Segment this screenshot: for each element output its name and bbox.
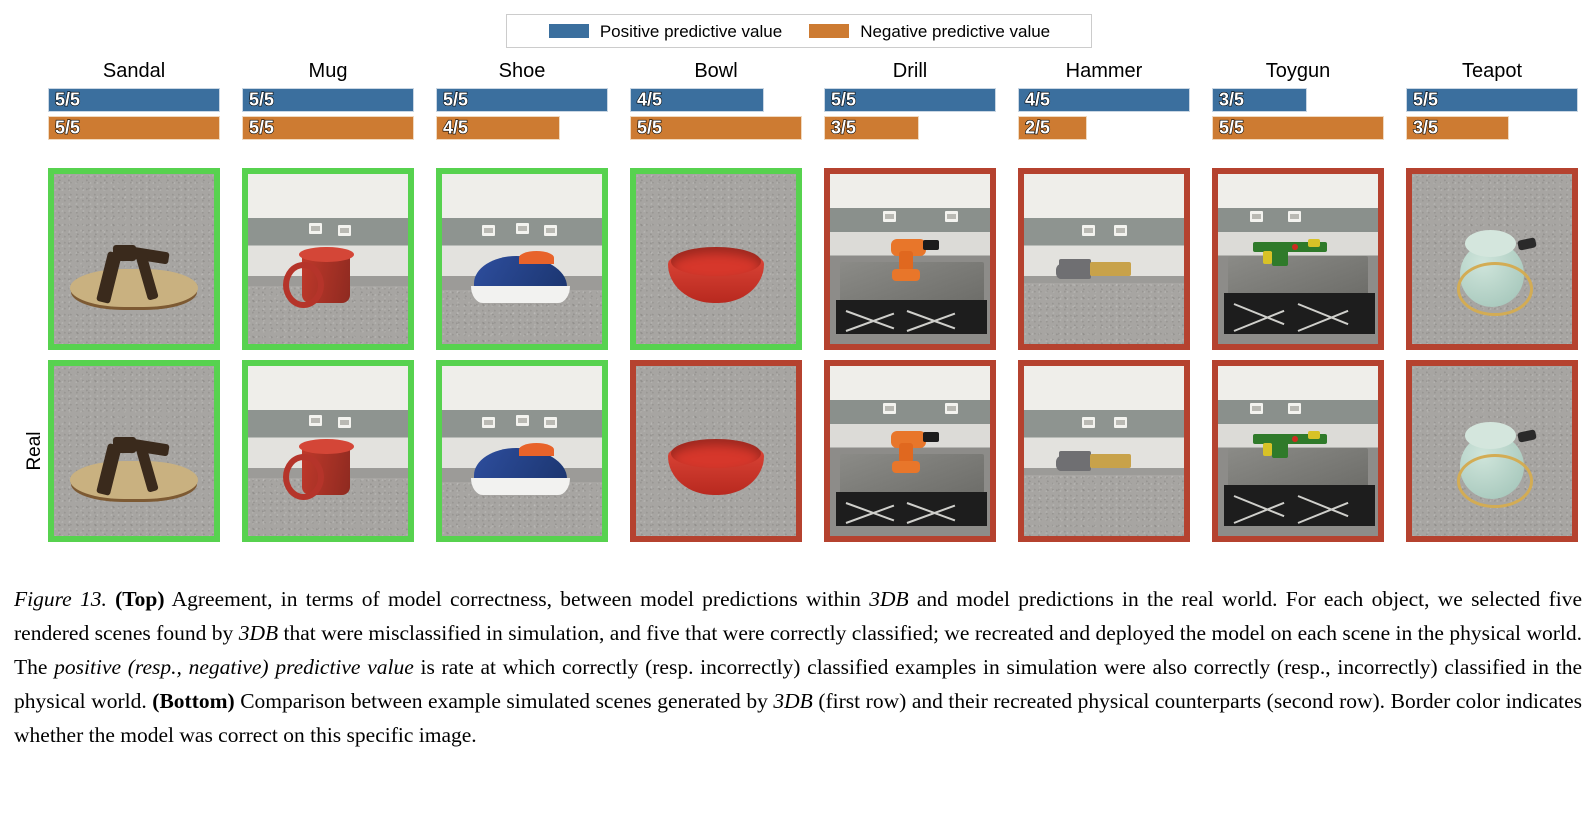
chart-column-title: Shoe — [436, 58, 608, 88]
caption-segment-5: Comparison between example simulated sce… — [235, 689, 774, 713]
bar-track-npv: 4/5 — [436, 116, 608, 140]
scene-cell-real-toygun[interactable] — [1212, 360, 1384, 542]
bar-value-label: 2/5 — [1025, 118, 1050, 139]
caption-bottom-label: (Bottom) — [152, 689, 234, 713]
chart-column-hammer: Hammer4/52/5 — [1018, 58, 1212, 150]
scene-hammer-room — [1024, 174, 1184, 344]
scene-image-grid — [48, 168, 1578, 542]
scene-cell-synthetic-hammer[interactable] — [1018, 168, 1190, 350]
scene-mug-room — [248, 366, 408, 536]
legend-entry-npv: Negative predictive value — [808, 23, 1050, 40]
chart-column-shoe: Shoe5/54/5 — [436, 58, 630, 150]
bar-track-npv: 3/5 — [1406, 116, 1578, 140]
caption-segment-1: Agreement, in terms of model correctness… — [165, 587, 870, 611]
bar-npv: 2/5 — [1018, 116, 1087, 140]
bar-track-ppv: 3/5 — [1212, 88, 1384, 112]
bar-track-npv: 5/5 — [1212, 116, 1384, 140]
bar-value-label: 5/5 — [637, 118, 662, 139]
bar-track-ppv: 4/5 — [630, 88, 802, 112]
bar-npv: 5/5 — [630, 116, 802, 140]
bar-ppv: 5/5 — [824, 88, 996, 112]
bar-value-label: 5/5 — [831, 90, 856, 111]
grid-row-synthetic — [48, 168, 1578, 350]
bar-npv: 4/5 — [436, 116, 560, 140]
bar-value-label: 5/5 — [55, 90, 80, 111]
bar-track-ppv: 5/5 — [242, 88, 414, 112]
figure-caption: Figure 13. (Top) Agreement, in terms of … — [14, 582, 1582, 752]
chart-column-title: Sandal — [48, 58, 220, 88]
bar-value-label: 4/5 — [1025, 90, 1050, 111]
scene-shoe-room — [442, 174, 602, 344]
bar-track-ppv: 5/5 — [1406, 88, 1578, 112]
bar-npv: 5/5 — [1212, 116, 1384, 140]
caption-figure-label: Figure 13. — [14, 587, 107, 611]
chart-column-title: Mug — [242, 58, 414, 88]
scene-cell-synthetic-drill[interactable] — [824, 168, 996, 350]
scene-cell-synthetic-sandal[interactable] — [48, 168, 220, 350]
bar-value-label: 4/5 — [637, 90, 662, 111]
scene-sandal-carpet — [54, 366, 214, 536]
bar-track-npv: 5/5 — [242, 116, 414, 140]
bar-ppv: 5/5 — [48, 88, 220, 112]
scene-teapot-carpet — [1412, 174, 1572, 344]
bar-value-label: 5/5 — [1219, 118, 1244, 139]
scene-cell-real-hammer[interactable] — [1018, 360, 1190, 542]
scene-toygun-ramp — [1218, 174, 1378, 344]
bar-npv: 3/5 — [824, 116, 919, 140]
chart-column-title: Drill — [824, 58, 996, 88]
scene-drill-ramp — [830, 366, 990, 536]
scene-cell-real-shoe[interactable] — [436, 360, 608, 542]
scene-hammer-room — [1024, 366, 1184, 536]
bar-ppv: 5/5 — [242, 88, 414, 112]
grid-row-real — [48, 360, 1578, 542]
scene-cell-synthetic-shoe[interactable] — [436, 168, 608, 350]
bar-ppv: 5/5 — [436, 88, 608, 112]
scene-cell-synthetic-teapot[interactable] — [1406, 168, 1578, 350]
legend-label-ppv: Positive predictive value — [600, 23, 782, 40]
bar-track-ppv: 5/5 — [824, 88, 996, 112]
bar-track-ppv: 5/5 — [48, 88, 220, 112]
bar-value-label: 4/5 — [443, 118, 468, 139]
scene-cell-real-drill[interactable] — [824, 360, 996, 542]
legend-swatch-orange-icon — [808, 23, 850, 39]
scene-cell-real-bowl[interactable] — [630, 360, 802, 542]
scene-cell-synthetic-toygun[interactable] — [1212, 168, 1384, 350]
legend-swatch-blue-icon — [548, 23, 590, 39]
bar-track-ppv: 5/5 — [436, 88, 608, 112]
bar-ppv: 5/5 — [1406, 88, 1578, 112]
scene-sandal-carpet — [54, 174, 214, 344]
scene-shoe-room — [442, 366, 602, 536]
scene-mug-room — [248, 174, 408, 344]
chart-column-title: Hammer — [1018, 58, 1190, 88]
bar-ppv: 4/5 — [1018, 88, 1190, 112]
bar-track-npv: 5/5 — [630, 116, 802, 140]
chart-column-title: Teapot — [1406, 58, 1578, 88]
bar-value-label: 3/5 — [1413, 118, 1438, 139]
bar-track-npv: 2/5 — [1018, 116, 1190, 140]
caption-term-italic: positive (resp., negative) predictive va… — [54, 655, 414, 679]
chart-column-mug: Mug5/55/5 — [242, 58, 436, 150]
scene-drill-ramp — [830, 174, 990, 344]
scene-bowl-carpet — [636, 174, 796, 344]
bar-npv: 5/5 — [242, 116, 414, 140]
scene-cell-synthetic-bowl[interactable] — [630, 168, 802, 350]
chart-column-teapot: Teapot5/53/5 — [1406, 58, 1578, 150]
bar-npv: 5/5 — [48, 116, 220, 140]
scene-teapot-carpet — [1412, 366, 1572, 536]
chart-column-title: Toygun — [1212, 58, 1384, 88]
bar-npv: 3/5 — [1406, 116, 1509, 140]
bar-value-label: 3/5 — [1219, 90, 1244, 111]
caption-term-3db-3: 3DB — [773, 689, 812, 713]
scene-toygun-ramp — [1218, 366, 1378, 536]
chart-legend: Positive predictive value Negative predi… — [506, 14, 1092, 48]
scene-cell-real-sandal[interactable] — [48, 360, 220, 542]
scene-bowl-carpet — [636, 366, 796, 536]
bar-value-label: 5/5 — [443, 90, 468, 111]
chart-column-title: Bowl — [630, 58, 802, 88]
legend-label-npv: Negative predictive value — [860, 23, 1050, 40]
chart-column-drill: Drill5/53/5 — [824, 58, 1018, 150]
chart-column-toygun: Toygun3/55/5 — [1212, 58, 1406, 150]
bar-track-ppv: 4/5 — [1018, 88, 1190, 112]
bar-value-label: 5/5 — [249, 118, 274, 139]
caption-top-label: (Top) — [115, 587, 164, 611]
scene-cell-real-mug[interactable] — [242, 360, 414, 542]
legend-entry-ppv: Positive predictive value — [548, 23, 782, 40]
bar-track-npv: 5/5 — [48, 116, 220, 140]
bar-value-label: 5/5 — [249, 90, 274, 111]
bar-ppv: 4/5 — [630, 88, 764, 112]
caption-term-3db-1: 3DB — [869, 587, 908, 611]
predictive-value-bar-chart: Sandal5/55/5Mug5/55/5Shoe5/54/5Bowl4/55/… — [48, 58, 1578, 150]
chart-column-bowl: Bowl4/55/5 — [630, 58, 824, 150]
chart-column-sandal: Sandal5/55/5 — [48, 58, 242, 150]
bar-ppv: 3/5 — [1212, 88, 1307, 112]
bar-value-label: 5/5 — [55, 118, 80, 139]
caption-term-3db-2: 3DB — [239, 621, 278, 645]
bar-track-npv: 3/5 — [824, 116, 996, 140]
bar-value-label: 5/5 — [1413, 90, 1438, 111]
scene-cell-synthetic-mug[interactable] — [242, 168, 414, 350]
bar-value-label: 3/5 — [831, 118, 856, 139]
scene-cell-real-teapot[interactable] — [1406, 360, 1578, 542]
